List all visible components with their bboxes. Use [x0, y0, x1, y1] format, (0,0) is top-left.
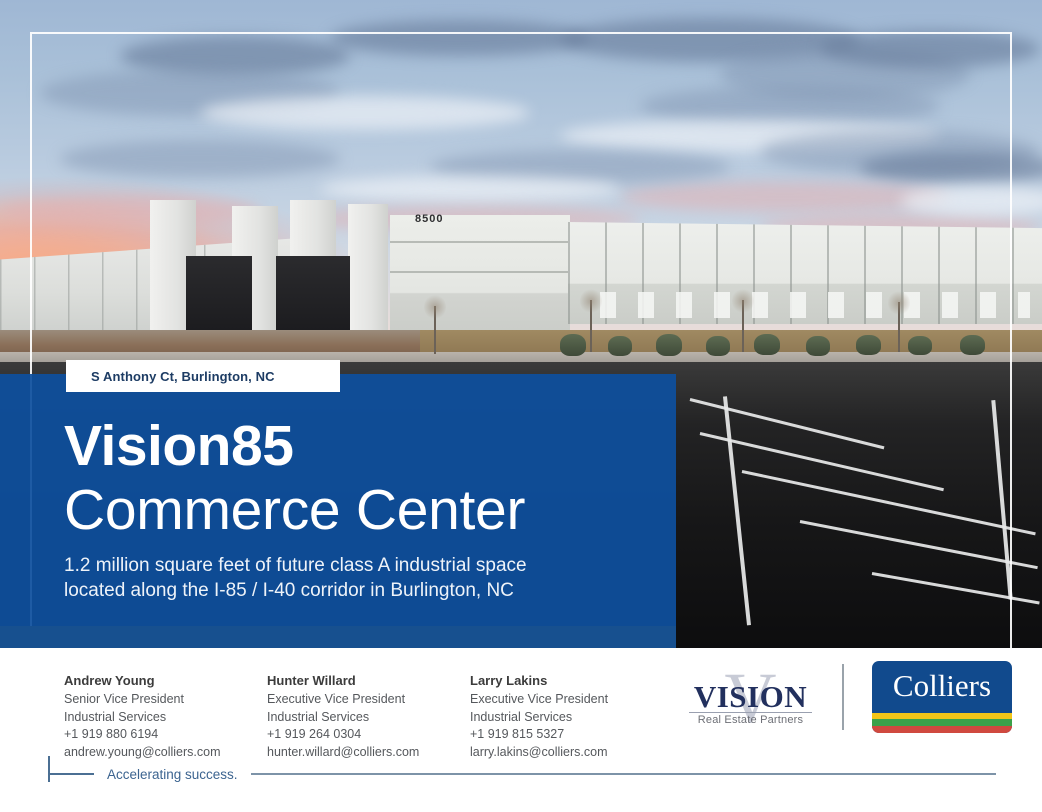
hero-subtitle: 1.2 million square feet of future class …	[64, 553, 664, 604]
address-label-box: S Anthony Ct, Burlington, NC	[66, 360, 340, 392]
colliers-logo: Colliers	[872, 661, 1012, 733]
tagline-row: Accelerating success.	[48, 766, 996, 782]
contact-list: Andrew Young Senior Vice President Indus…	[64, 672, 673, 762]
hero-blue-panel-base	[0, 626, 676, 648]
contact-phone[interactable]: +1 919 264 0304	[267, 726, 470, 744]
tagline-rule-right	[251, 773, 996, 775]
contact-name: Andrew Young	[64, 672, 267, 691]
hero-photo: 8500 S Anthony Ct, Burlin	[0, 0, 1042, 648]
contact-card: Hunter Willard Executive Vice President …	[267, 672, 470, 762]
logo-divider	[842, 664, 844, 730]
hero-subtitle-line2: located along the I-85 / I-40 corridor i…	[64, 578, 664, 603]
contact-phone[interactable]: +1 919 815 5327	[470, 726, 673, 744]
contact-card: Larry Lakins Executive Vice President In…	[470, 672, 673, 762]
contact-card: Andrew Young Senior Vice President Indus…	[64, 672, 267, 762]
contact-email[interactable]: larry.lakins@colliers.com	[470, 744, 673, 762]
colliers-stripe-green	[872, 719, 1012, 726]
footer: Andrew Young Senior Vice President Indus…	[0, 648, 1042, 812]
colliers-stripe-red	[872, 726, 1012, 733]
tagline-dash-left	[50, 773, 94, 775]
colliers-wordmark: Colliers	[872, 670, 1012, 701]
brochure-page: 8500 S Anthony Ct, Burlin	[0, 0, 1042, 812]
tagline-text: Accelerating success.	[94, 767, 251, 782]
contact-name: Larry Lakins	[470, 672, 673, 691]
contact-title: Executive Vice President	[267, 691, 470, 709]
contact-name: Hunter Willard	[267, 672, 470, 691]
vision-logo-rule	[689, 712, 812, 713]
contact-phone[interactable]: +1 919 880 6194	[64, 726, 267, 744]
vision-logo: V VISION Real Estate Partners	[683, 660, 818, 734]
contact-department: Industrial Services	[470, 709, 673, 727]
contact-department: Industrial Services	[64, 709, 267, 727]
logo-group: V VISION Real Estate Partners Colliers	[683, 660, 1012, 734]
address-label-text: S Anthony Ct, Burlington, NC	[66, 369, 275, 384]
vision-wordmark: VISION	[683, 681, 818, 712]
contact-title: Senior Vice President	[64, 691, 267, 709]
tagline-tick	[48, 756, 50, 782]
contact-title: Executive Vice President	[470, 691, 673, 709]
page-title-secondary: Commerce Center	[64, 482, 525, 539]
hero-subtitle-line1: 1.2 million square feet of future class …	[64, 553, 664, 578]
contact-department: Industrial Services	[267, 709, 470, 727]
contact-email[interactable]: hunter.willard@colliers.com	[267, 744, 470, 762]
contact-email[interactable]: andrew.young@colliers.com	[64, 744, 267, 762]
vision-logo-tagline: Real Estate Partners	[683, 714, 818, 726]
page-title-primary: Vision85	[64, 418, 293, 475]
